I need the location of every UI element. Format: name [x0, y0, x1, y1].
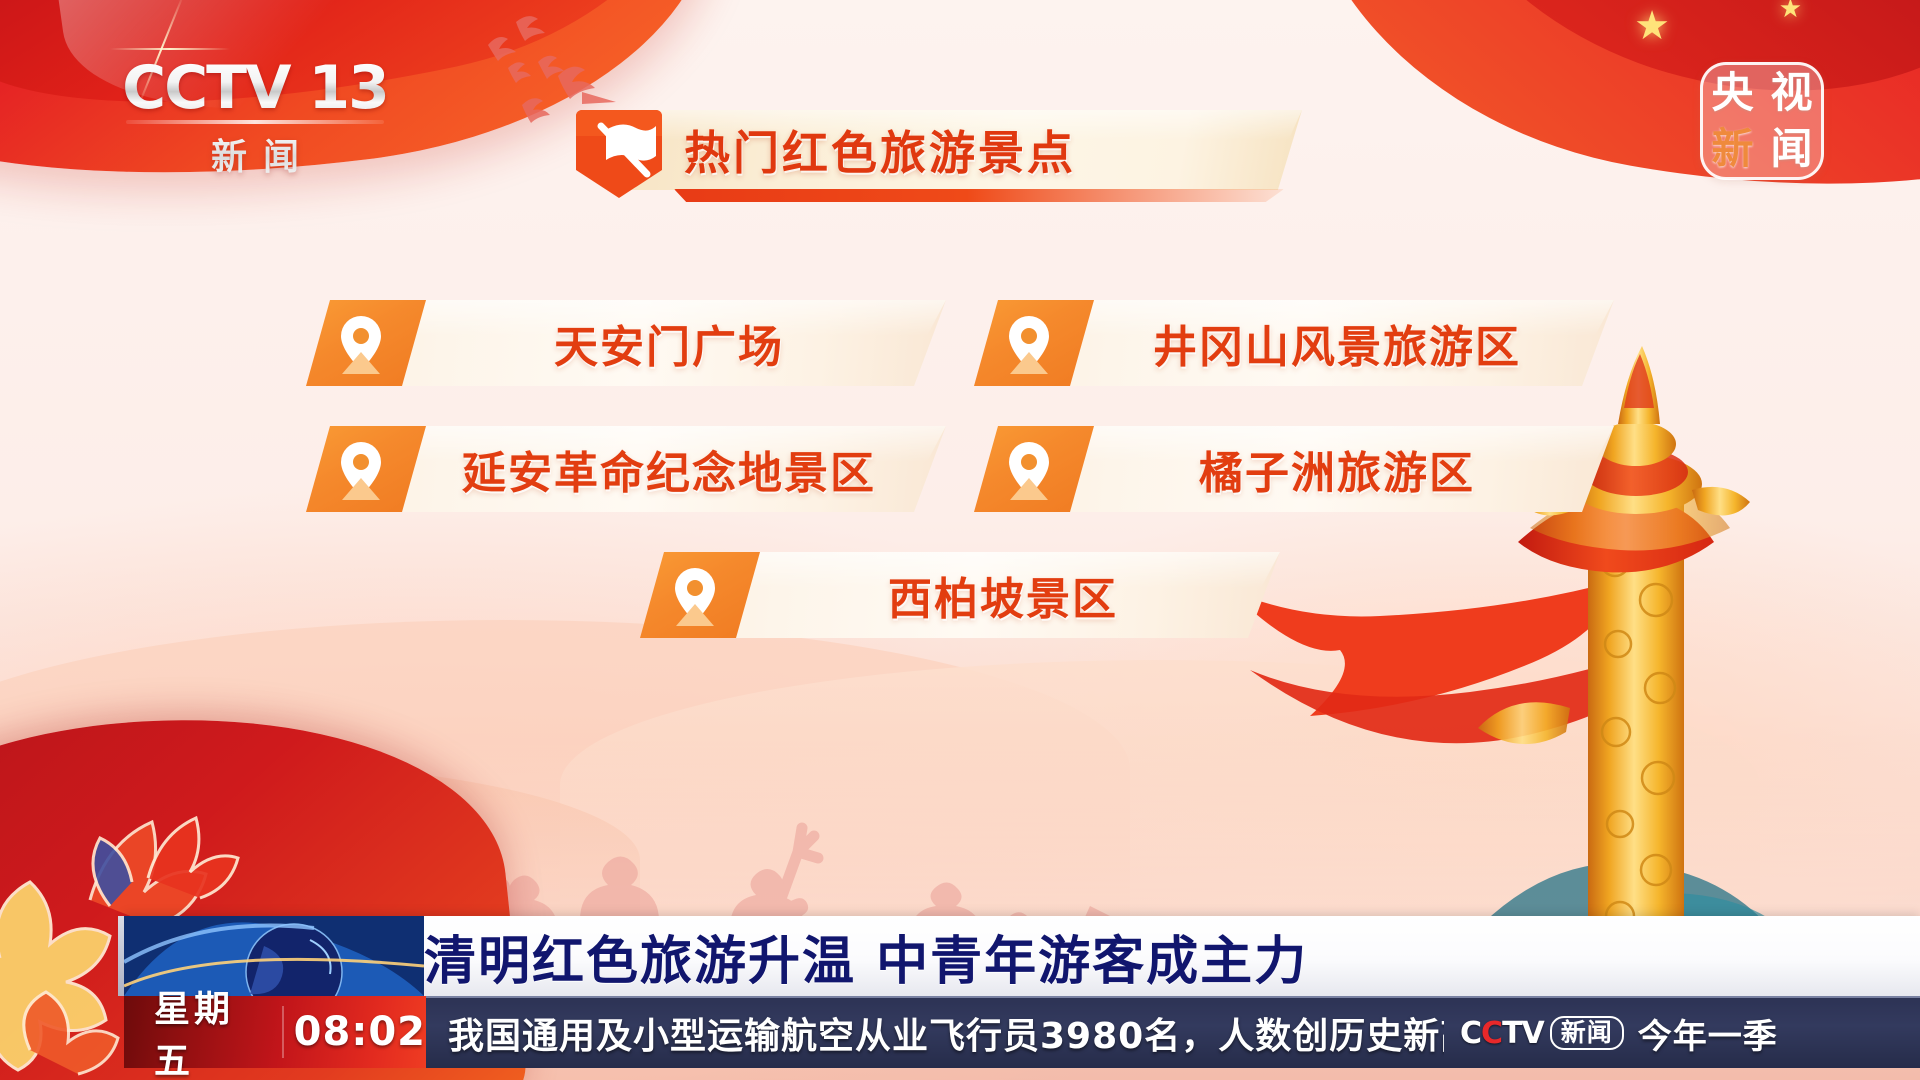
cctv-news-badge: 央 视 新 闻: [1700, 62, 1824, 180]
ticker-weekday: 星期五: [124, 980, 260, 1080]
map-pin-icon: [332, 440, 390, 500]
badge-char-shi: 视: [1770, 72, 1812, 114]
flag-shield-icon: [574, 104, 664, 200]
ticker-next-headline: 今年一季: [1638, 1009, 1778, 1058]
ticker-cctv-news-logo: CCTV 新闻: [1460, 1016, 1624, 1051]
ticker-logo-cctv: CCTV: [1460, 1016, 1544, 1051]
ticker-time: 08:02: [260, 1009, 426, 1055]
ticker-tail: CCTV 新闻 今年一季: [1444, 996, 1920, 1068]
map-pin-icon: [332, 314, 390, 374]
badge-char-yang: 央: [1711, 72, 1753, 114]
spot-row-3: 西柏坡景区: [0, 552, 1920, 638]
spot-list: 天安门广场 井冈山风景旅游区: [0, 300, 1920, 678]
badge-char-xin: 新: [1711, 128, 1753, 170]
map-pin-icon: [666, 566, 724, 626]
spot-label: 橘子洲旅游区: [1094, 426, 1580, 512]
spot-item-xibaipo[interactable]: 西柏坡景区: [640, 552, 1280, 638]
channel-logo-sub: 新闻: [110, 128, 400, 180]
spot-item-jinggangshan[interactable]: 井冈山风景旅游区: [974, 300, 1614, 386]
heading-accent-bar: [674, 189, 1284, 202]
spot-item-yanan[interactable]: 延安革命纪念地景区: [306, 426, 946, 512]
ticker-logo-news: 新闻: [1550, 1016, 1624, 1050]
spot-item-tiananmen[interactable]: 天安门广场: [306, 300, 946, 386]
spot-item-juzizhou[interactable]: 橘子洲旅游区: [974, 426, 1614, 512]
news-ticker: 星期五 08:02 我国通用及小型运输航空从业飞行员3980名，人数创历史新高。…: [124, 996, 1920, 1068]
ticker-text-area: 我国通用及小型运输航空从业飞行员3980名，人数创历史新高。: [426, 996, 1444, 1068]
map-pin-icon: [1000, 440, 1058, 500]
broadcast-screen: ★ ★: [0, 0, 1920, 1080]
channel-logo-mark: CCTV 13: [110, 58, 400, 118]
spot-label: 天安门广场: [426, 300, 912, 386]
ticker-text: 我国通用及小型运输航空从业飞行员3980名，人数创历史新高。: [426, 1007, 1444, 1059]
ticker-datetime: 星期五 08:02: [124, 996, 426, 1068]
sparkle-ray: [110, 48, 230, 50]
map-pin-icon: [1000, 314, 1058, 374]
ticker-divider: [282, 1006, 284, 1058]
star-icon: ★: [1634, 6, 1670, 46]
spot-row-2: 延安革命纪念地景区 橘子洲旅游区: [0, 426, 1920, 512]
badge-char-wen: 闻: [1770, 128, 1812, 170]
star-icon: ★: [1779, 0, 1802, 22]
spot-label: 西柏坡景区: [760, 552, 1246, 638]
spot-row-1: 天安门广场 井冈山风景旅游区: [0, 300, 1920, 386]
spot-label: 延安革命纪念地景区: [426, 426, 912, 512]
heading-title: 热门红色旅游景点: [684, 110, 1282, 190]
spot-label: 井冈山风景旅游区: [1094, 300, 1580, 386]
section-heading: 热门红色旅游景点: [612, 110, 1302, 190]
channel-logo: CCTV 13 新闻: [110, 58, 400, 183]
